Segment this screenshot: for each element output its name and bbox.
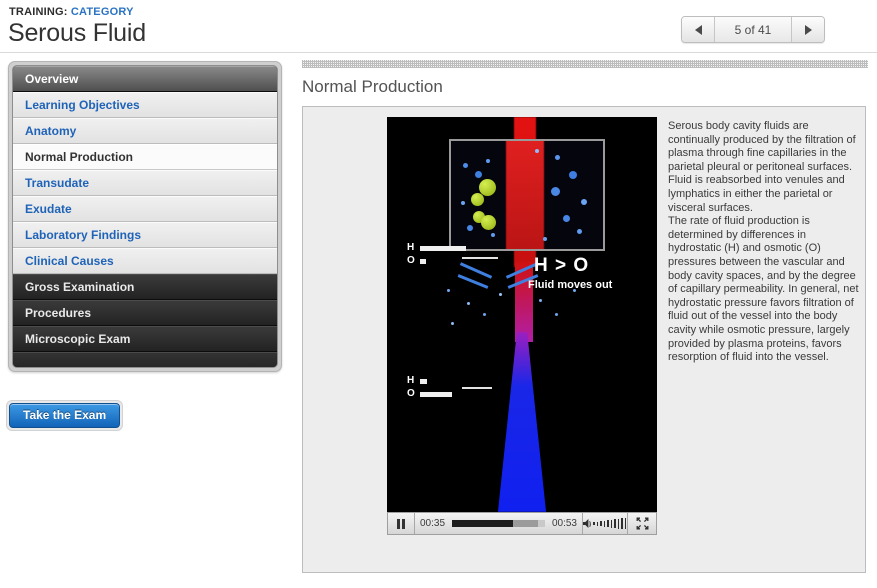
gauge-bottom-o-bar bbox=[420, 392, 452, 397]
volume-bar bbox=[618, 519, 620, 529]
sidebar-item-anatomy[interactable]: Anatomy bbox=[13, 118, 277, 144]
gauge-bottom-o-label: O bbox=[407, 388, 415, 399]
triangle-right-icon bbox=[805, 25, 812, 35]
sidebar-nav: OverviewLearning ObjectivesAnatomyNormal… bbox=[8, 61, 282, 372]
video-player[interactable]: H O H O H > O Fluid moves out 00:35 bbox=[387, 117, 657, 535]
section-title: Normal Production bbox=[302, 76, 868, 98]
article-body: Serous body cavity fluids are continuall… bbox=[668, 120, 860, 365]
particle bbox=[447, 289, 450, 292]
article-paragraph: Serous body cavity fluids are continuall… bbox=[668, 120, 860, 215]
particle bbox=[483, 313, 486, 316]
page-header: TRAINING: CATEGORY Serous Fluid 5 of 41 bbox=[0, 0, 877, 55]
vessel-blue-cone bbox=[479, 332, 565, 512]
protein-dot bbox=[461, 201, 465, 205]
gauge-bottom-tick bbox=[462, 387, 492, 389]
video-caption-label: Fluid moves out bbox=[528, 279, 612, 291]
particle bbox=[467, 302, 470, 305]
page-indicator: 5 of 41 bbox=[715, 17, 791, 42]
gauge-top-o-label: O bbox=[407, 255, 415, 266]
gauge-top-tick bbox=[462, 257, 498, 259]
sidebar-item-laboratory-findings[interactable]: Laboratory Findings bbox=[13, 222, 277, 248]
protein-dot bbox=[535, 149, 539, 153]
protein-dot bbox=[551, 187, 560, 196]
decorative-hatch-bar bbox=[302, 60, 868, 68]
volume-bar bbox=[625, 518, 627, 529]
volume-bar bbox=[607, 520, 609, 527]
volume-control[interactable] bbox=[582, 513, 627, 534]
particle bbox=[451, 322, 454, 325]
sidebar-item-exudate[interactable]: Exudate bbox=[13, 196, 277, 222]
fullscreen-button[interactable] bbox=[627, 513, 656, 534]
gauge-bottom-h-bar bbox=[420, 379, 427, 384]
duration-label: 00:53 bbox=[547, 513, 582, 534]
protein-dot bbox=[569, 171, 577, 179]
volume-bar bbox=[621, 518, 623, 529]
volume-bar bbox=[614, 519, 616, 528]
pause-icon bbox=[397, 519, 400, 529]
volume-bar bbox=[597, 522, 599, 526]
protein-dot bbox=[475, 171, 482, 178]
cell-particle bbox=[471, 193, 484, 206]
sidebar-item-clinical-causes[interactable]: Clinical Causes bbox=[13, 248, 277, 274]
protein-dot bbox=[486, 159, 490, 163]
current-time-label: 00:35 bbox=[415, 513, 450, 534]
page-title: Serous Fluid bbox=[8, 18, 146, 48]
cell-particle bbox=[481, 215, 496, 230]
gauge-bottom-h-label: H bbox=[407, 375, 414, 386]
flow-arrow bbox=[458, 274, 489, 289]
volume-bar bbox=[604, 521, 606, 527]
protein-dot bbox=[491, 233, 495, 237]
prev-page-button[interactable] bbox=[682, 17, 714, 42]
header-divider bbox=[0, 52, 877, 53]
protein-dot bbox=[563, 215, 570, 222]
gauge-top-h-label: H bbox=[407, 242, 414, 253]
sidebar-nav-list: OverviewLearning ObjectivesAnatomyNormal… bbox=[12, 65, 278, 368]
video-stage: H O H O H > O Fluid moves out bbox=[387, 117, 657, 512]
gauge-top-h-bar bbox=[420, 246, 466, 251]
scrubber-track[interactable] bbox=[452, 520, 545, 527]
article-paragraph: The rate of fluid production is determin… bbox=[668, 215, 860, 365]
take-exam-button[interactable]: Take the Exam bbox=[9, 403, 120, 428]
sidebar-item-microscopic-exam[interactable]: Microscopic Exam bbox=[13, 326, 277, 352]
fullscreen-icon bbox=[636, 517, 649, 530]
sidebar-item-overview[interactable]: Overview bbox=[13, 66, 277, 92]
sidebar-item-transudate[interactable]: Transudate bbox=[13, 170, 277, 196]
protein-dot bbox=[543, 237, 547, 241]
content-header: Normal Production bbox=[302, 60, 868, 98]
sidebar-footer-strip bbox=[13, 352, 277, 367]
protein-dot bbox=[555, 155, 560, 160]
volume-icon bbox=[583, 518, 592, 529]
pause-button[interactable] bbox=[388, 513, 415, 534]
gauge-top-o-bar bbox=[420, 259, 426, 264]
capillary-inset-view bbox=[449, 139, 605, 251]
take-exam-button-wrapper: Take the Exam bbox=[6, 400, 123, 431]
volume-bar bbox=[611, 520, 613, 528]
breadcrumb: TRAINING: CATEGORY bbox=[9, 6, 134, 18]
scrubber-played bbox=[452, 520, 513, 527]
pause-icon bbox=[402, 519, 405, 529]
breadcrumb-training-label: TRAINING: bbox=[9, 6, 68, 18]
volume-bar bbox=[600, 521, 602, 526]
sidebar-item-procedures[interactable]: Procedures bbox=[13, 300, 277, 326]
protein-dot bbox=[463, 163, 468, 168]
volume-bar bbox=[593, 522, 595, 525]
particle bbox=[499, 293, 502, 296]
next-page-button[interactable] bbox=[792, 17, 824, 42]
sidebar-item-gross-examination[interactable]: Gross Examination bbox=[13, 274, 277, 300]
particle bbox=[555, 313, 558, 316]
sidebar-item-learning-objectives[interactable]: Learning Objectives bbox=[13, 92, 277, 118]
video-controls-bar: 00:35 00:53 bbox=[387, 512, 657, 535]
sidebar-item-normal-production[interactable]: Normal Production bbox=[13, 144, 277, 170]
pagination-control[interactable]: 5 of 41 bbox=[681, 16, 825, 43]
protein-dot bbox=[577, 229, 582, 234]
protein-dot bbox=[581, 199, 587, 205]
breadcrumb-category-link[interactable]: CATEGORY bbox=[71, 6, 134, 18]
video-comparison-label: H > O bbox=[534, 255, 589, 277]
triangle-left-icon bbox=[695, 25, 702, 35]
progress-scrubber[interactable] bbox=[450, 513, 547, 534]
scrubber-buffered bbox=[513, 520, 537, 527]
protein-dot bbox=[467, 225, 473, 231]
inset-vessel bbox=[506, 139, 544, 251]
particle bbox=[539, 299, 542, 302]
